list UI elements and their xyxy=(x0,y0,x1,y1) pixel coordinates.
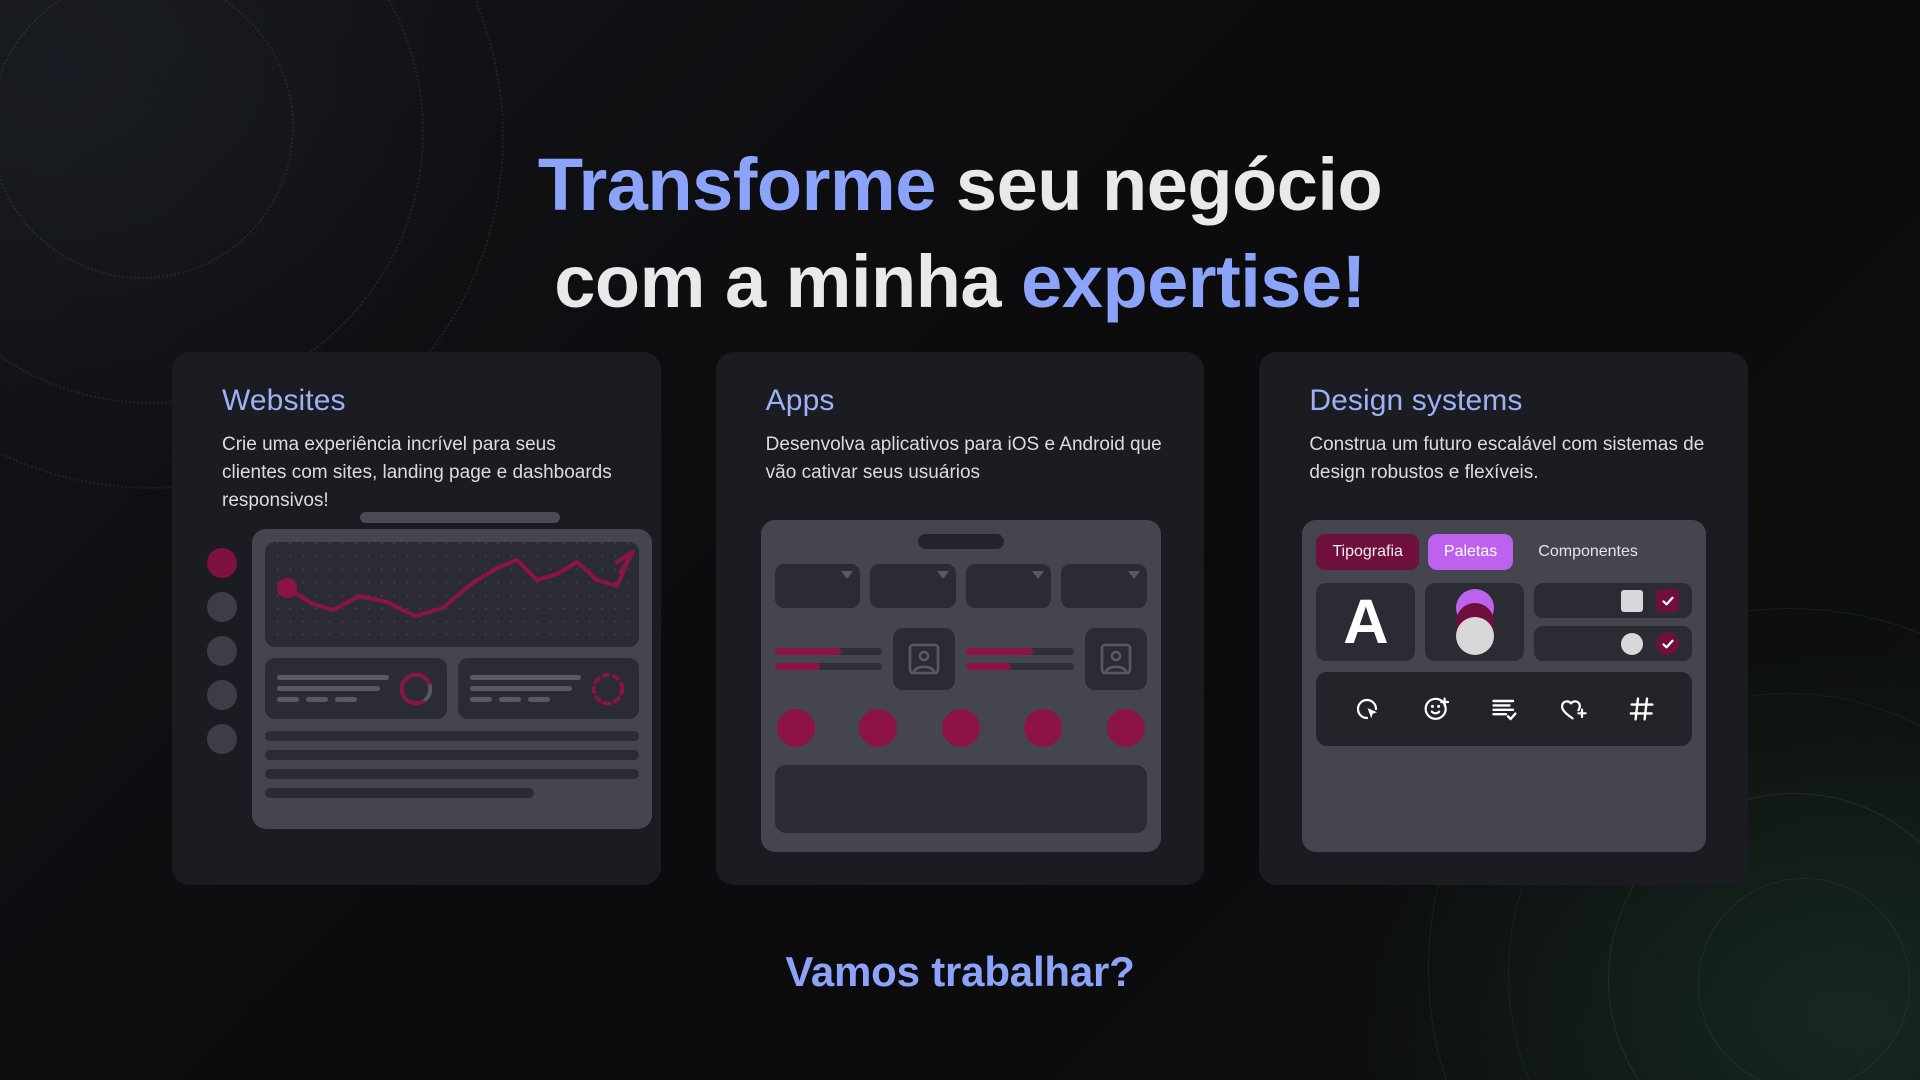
progress-bar-group xyxy=(775,648,883,670)
list-check-icon[interactable] xyxy=(1489,694,1519,724)
dropdown-tile[interactable] xyxy=(775,564,861,608)
dot-indicator[interactable] xyxy=(942,709,980,747)
design-system-icon-bar xyxy=(1316,672,1692,746)
page-title: Transforme seu negócio com a minha exper… xyxy=(0,136,1920,331)
swatch-light xyxy=(1456,617,1494,655)
dashboard-body xyxy=(252,529,652,829)
headline-accent-2: expertise! xyxy=(1021,240,1366,323)
card-description: Crie uma experiência incrível para seus … xyxy=(222,431,622,515)
feature-card-design-systems[interactable]: Design systems Construa um futuro escalá… xyxy=(1259,352,1748,885)
skeleton-row xyxy=(265,769,639,779)
progress-and-avatar-row xyxy=(775,628,1147,690)
tab-componentes[interactable]: Componentes xyxy=(1522,534,1654,570)
line-chart-svg xyxy=(265,542,639,647)
chevron-down-icon xyxy=(841,571,853,579)
radio-checked[interactable] xyxy=(1656,632,1679,655)
gauge-ring-dashed-icon xyxy=(589,670,627,708)
chevron-down-icon xyxy=(937,571,949,579)
checkbox-row xyxy=(1534,583,1692,618)
progress-bar xyxy=(775,663,883,670)
card-description: Desenvolva aplicativos para iOS e Androi… xyxy=(766,431,1166,487)
headline-line-1: Transforme seu negócio xyxy=(0,136,1920,234)
app-footer-panel xyxy=(775,765,1147,833)
cta-text[interactable]: Vamos trabalhar? xyxy=(0,948,1920,996)
skeleton-line xyxy=(277,686,380,691)
stat-box-row xyxy=(265,658,639,719)
radio-row xyxy=(1534,626,1692,661)
dot-indicator[interactable] xyxy=(777,709,815,747)
dot-indicator[interactable] xyxy=(1024,709,1062,747)
dashboard-sidebar-rail xyxy=(200,540,244,858)
dropdown-tile[interactable] xyxy=(1061,564,1147,608)
dropdown-tile-row xyxy=(775,564,1147,608)
avatar-placeholder xyxy=(1085,628,1147,690)
rail-dot[interactable] xyxy=(207,636,237,666)
cursor-click-icon[interactable] xyxy=(1352,694,1382,724)
dropdown-tile[interactable] xyxy=(870,564,956,608)
tab-tipografia[interactable]: Tipografia xyxy=(1316,534,1419,570)
dashboard-mockup xyxy=(200,512,660,852)
gauge-ring-icon xyxy=(397,670,435,708)
component-toggle-group xyxy=(1534,583,1692,661)
dropdown-tile[interactable] xyxy=(966,564,1052,608)
image-placeholder-icon xyxy=(1099,642,1133,676)
headline-plain-1: seu negócio xyxy=(936,143,1382,226)
heart-plus-icon[interactable] xyxy=(1558,694,1588,724)
feature-card-websites[interactable]: Websites Crie uma experiência incrível p… xyxy=(172,352,661,885)
skeleton-line xyxy=(470,675,582,680)
progress-bar xyxy=(966,648,1074,655)
mobile-app-mockup xyxy=(761,520,1161,852)
progress-bar xyxy=(775,648,883,655)
skeleton-line xyxy=(277,675,389,680)
avatar-placeholder xyxy=(893,628,955,690)
skeleton-row xyxy=(265,750,639,760)
checkbox-unchecked[interactable] xyxy=(1621,590,1643,612)
chevron-down-icon xyxy=(1128,571,1140,579)
type-specimen-glyph: A xyxy=(1343,591,1389,654)
mockup-top-handle xyxy=(360,512,560,523)
color-swatch-stack xyxy=(1452,589,1498,655)
dot-indicator-row xyxy=(775,709,1147,747)
rail-dot-active[interactable] xyxy=(207,548,237,578)
check-icon xyxy=(1661,594,1675,608)
stat-text-lines xyxy=(470,675,582,702)
card-description: Construa um futuro escalável com sistema… xyxy=(1309,431,1709,487)
skeleton-dash-row xyxy=(277,697,389,702)
smiley-add-icon[interactable] xyxy=(1421,694,1451,724)
feature-card-apps[interactable]: Apps Desenvolva aplicativos para iOS e A… xyxy=(716,352,1205,885)
rail-dot[interactable] xyxy=(207,680,237,710)
color-palette-cell xyxy=(1425,583,1524,661)
card-title: Apps xyxy=(766,384,1205,418)
image-placeholder-icon xyxy=(907,642,941,676)
headline-accent-1: Transforme xyxy=(538,143,936,226)
skeleton-row xyxy=(265,788,534,798)
rail-dot[interactable] xyxy=(207,592,237,622)
grid-icon[interactable] xyxy=(1627,694,1657,724)
skeleton-dash-row xyxy=(470,697,582,702)
skeleton-row xyxy=(265,731,639,741)
chevron-down-icon xyxy=(1032,571,1044,579)
checkbox-checked[interactable] xyxy=(1656,589,1679,612)
tab-paletas[interactable]: Paletas xyxy=(1428,534,1513,570)
line-chart-panel xyxy=(265,542,639,647)
dot-indicator[interactable] xyxy=(1107,709,1145,747)
feature-card-list: Websites Crie uma experiência incrível p… xyxy=(172,352,1748,885)
headline-line-2: com a minha expertise! xyxy=(0,233,1920,331)
typography-preview-cell: A xyxy=(1316,583,1415,661)
card-title: Websites xyxy=(222,384,661,418)
dot-indicator[interactable] xyxy=(859,709,897,747)
stat-box xyxy=(458,658,640,719)
headline-plain-2: com a minha xyxy=(554,240,1021,323)
check-icon xyxy=(1661,637,1675,651)
radio-unchecked[interactable] xyxy=(1621,633,1643,655)
slide-root: Transforme seu negócio com a minha exper… xyxy=(0,0,1920,1080)
stat-text-lines xyxy=(277,675,389,702)
card-title: Design systems xyxy=(1309,384,1748,418)
skeleton-line xyxy=(470,686,573,691)
progress-bar xyxy=(966,663,1074,670)
design-system-mockup: Tipografia Paletas Componentes A xyxy=(1302,520,1706,852)
stat-box xyxy=(265,658,447,719)
dashboard-skeleton-rows xyxy=(265,731,639,798)
phone-notch xyxy=(918,534,1004,549)
design-system-tab-list: Tipografia Paletas Componentes xyxy=(1316,534,1692,570)
rail-dot[interactable] xyxy=(207,724,237,754)
design-system-preview-grid: A xyxy=(1316,583,1692,661)
progress-bar-group xyxy=(966,648,1074,670)
